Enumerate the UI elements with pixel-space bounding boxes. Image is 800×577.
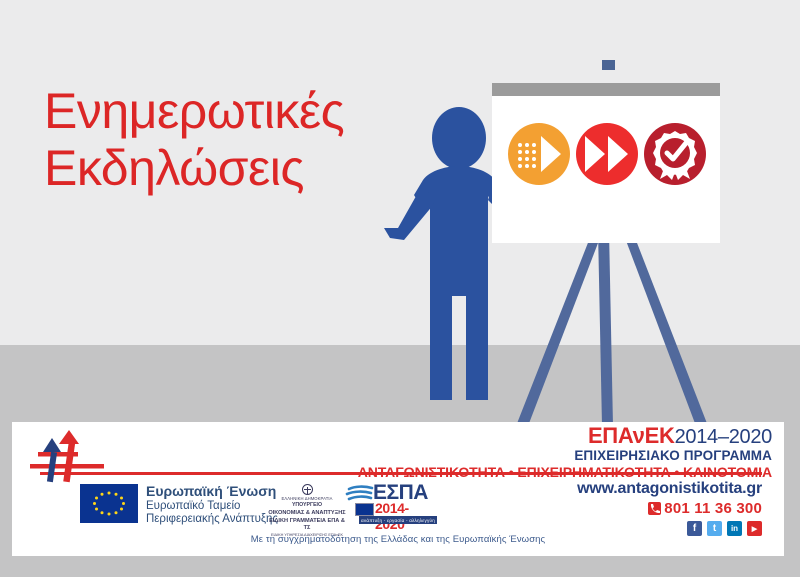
board-hook xyxy=(602,60,615,70)
dots-arrow-icon xyxy=(508,123,570,185)
ministry-block: ΕΛΛΗΝΙΚΗ ΔΗΜΟΚΡΑΤΙΑ ΥΠΟΥΡΓΕΙΟ ΟΙΚΟΝΟΜΙΑΣ… xyxy=(267,484,347,539)
ministry-line-4: ΕΙΔΙΚΗ ΓΡΑΜΜΑΤΕΙΑ ΕΠΑ & ΤΣ xyxy=(267,518,347,534)
page-title: Ενημερωτικές Εκδηλώσεις xyxy=(44,83,404,197)
eu-text-block: Ευρωπαϊκή Ένωση Ευρωπαϊκό Ταμείο Περιφερ… xyxy=(146,484,278,527)
eu-title: Ευρωπαϊκή Ένωση xyxy=(146,484,278,500)
ministry-line-3: ΟΙΚΟΝΟΜΙΑΣ & ΑΝΑΠΤΥΞΗΣ xyxy=(267,510,347,518)
cofunding-note: Με τη συγχρηματοδότηση της Ελλάδας και τ… xyxy=(12,534,784,545)
phone-icon xyxy=(648,502,661,515)
board-icon-row xyxy=(500,118,714,190)
espa-banner: ΕΠΑνΕΚ2014–2020 ΕΠΙΧΕΙΡΗΣΙΑΚΟ ΠΡΟΓΡΑΜΜΑ … xyxy=(12,422,784,556)
eu-subtitle-2: Περιφερειακής Ανάπτυξης xyxy=(146,513,278,527)
board-top-bar xyxy=(492,83,720,96)
fast-forward-icon xyxy=(576,123,638,185)
contact-block: www.antagonistikotita.gr 801 11 36 300 f… xyxy=(577,480,762,536)
phone-row: 801 11 36 300 xyxy=(577,500,762,517)
award-check-icon xyxy=(644,123,706,185)
program-subtitle: ΕΠΙΧΕΙΡΗΣΙΑΚΟ ΠΡΟΓΡΑΜΜΑ xyxy=(312,448,772,463)
espa-tagline: ανάπτυξη - εργασία - αλληλεγγύη xyxy=(359,516,437,524)
eu-logo-block: Ευρωπαϊκή Ένωση Ευρωπαϊκό Ταμείο Περιφερ… xyxy=(80,484,278,527)
espa-arrows-logo xyxy=(30,428,104,484)
website-link[interactable]: www.antagonistikotita.gr xyxy=(577,480,762,498)
phone-number[interactable]: 801 11 36 300 xyxy=(664,500,762,517)
greek-republic-emblem-icon xyxy=(302,484,313,495)
poster-root: Ενημερωτικές Εκδηλώσεις xyxy=(0,0,800,577)
ministry-line-2: ΥΠΟΥΡΓΕΙΟ xyxy=(267,502,347,510)
program-title-line1: ΕΠΑνΕΚ2014–2020 xyxy=(312,425,772,447)
program-pillars: ΑΝΤΑΓΩΝΙΣΤΙΚΟΤΗΤΑ • ΕΠΙΧΕΙΡΗΜΑΤΙΚΟΤΗΤΑ •… xyxy=(312,464,772,480)
program-title-block: ΕΠΑνΕΚ2014–2020 ΕΠΙΧΕΙΡΗΣΙΑΚΟ ΠΡΟΓΡΑΜΜΑ … xyxy=(312,425,772,480)
espa-mini-flag-icon xyxy=(355,503,374,516)
eu-flag-icon xyxy=(80,484,138,523)
eu-subtitle-1: Ευρωπαϊκό Ταμείο xyxy=(146,500,278,514)
program-years: 2014–2020 xyxy=(675,426,772,448)
espa-logo-block: ΕΣΠΑ 2014-2020 ανάπτυξη - εργασία - αλλη… xyxy=(345,483,437,523)
program-name: ΕΠΑνΕΚ xyxy=(588,423,675,448)
